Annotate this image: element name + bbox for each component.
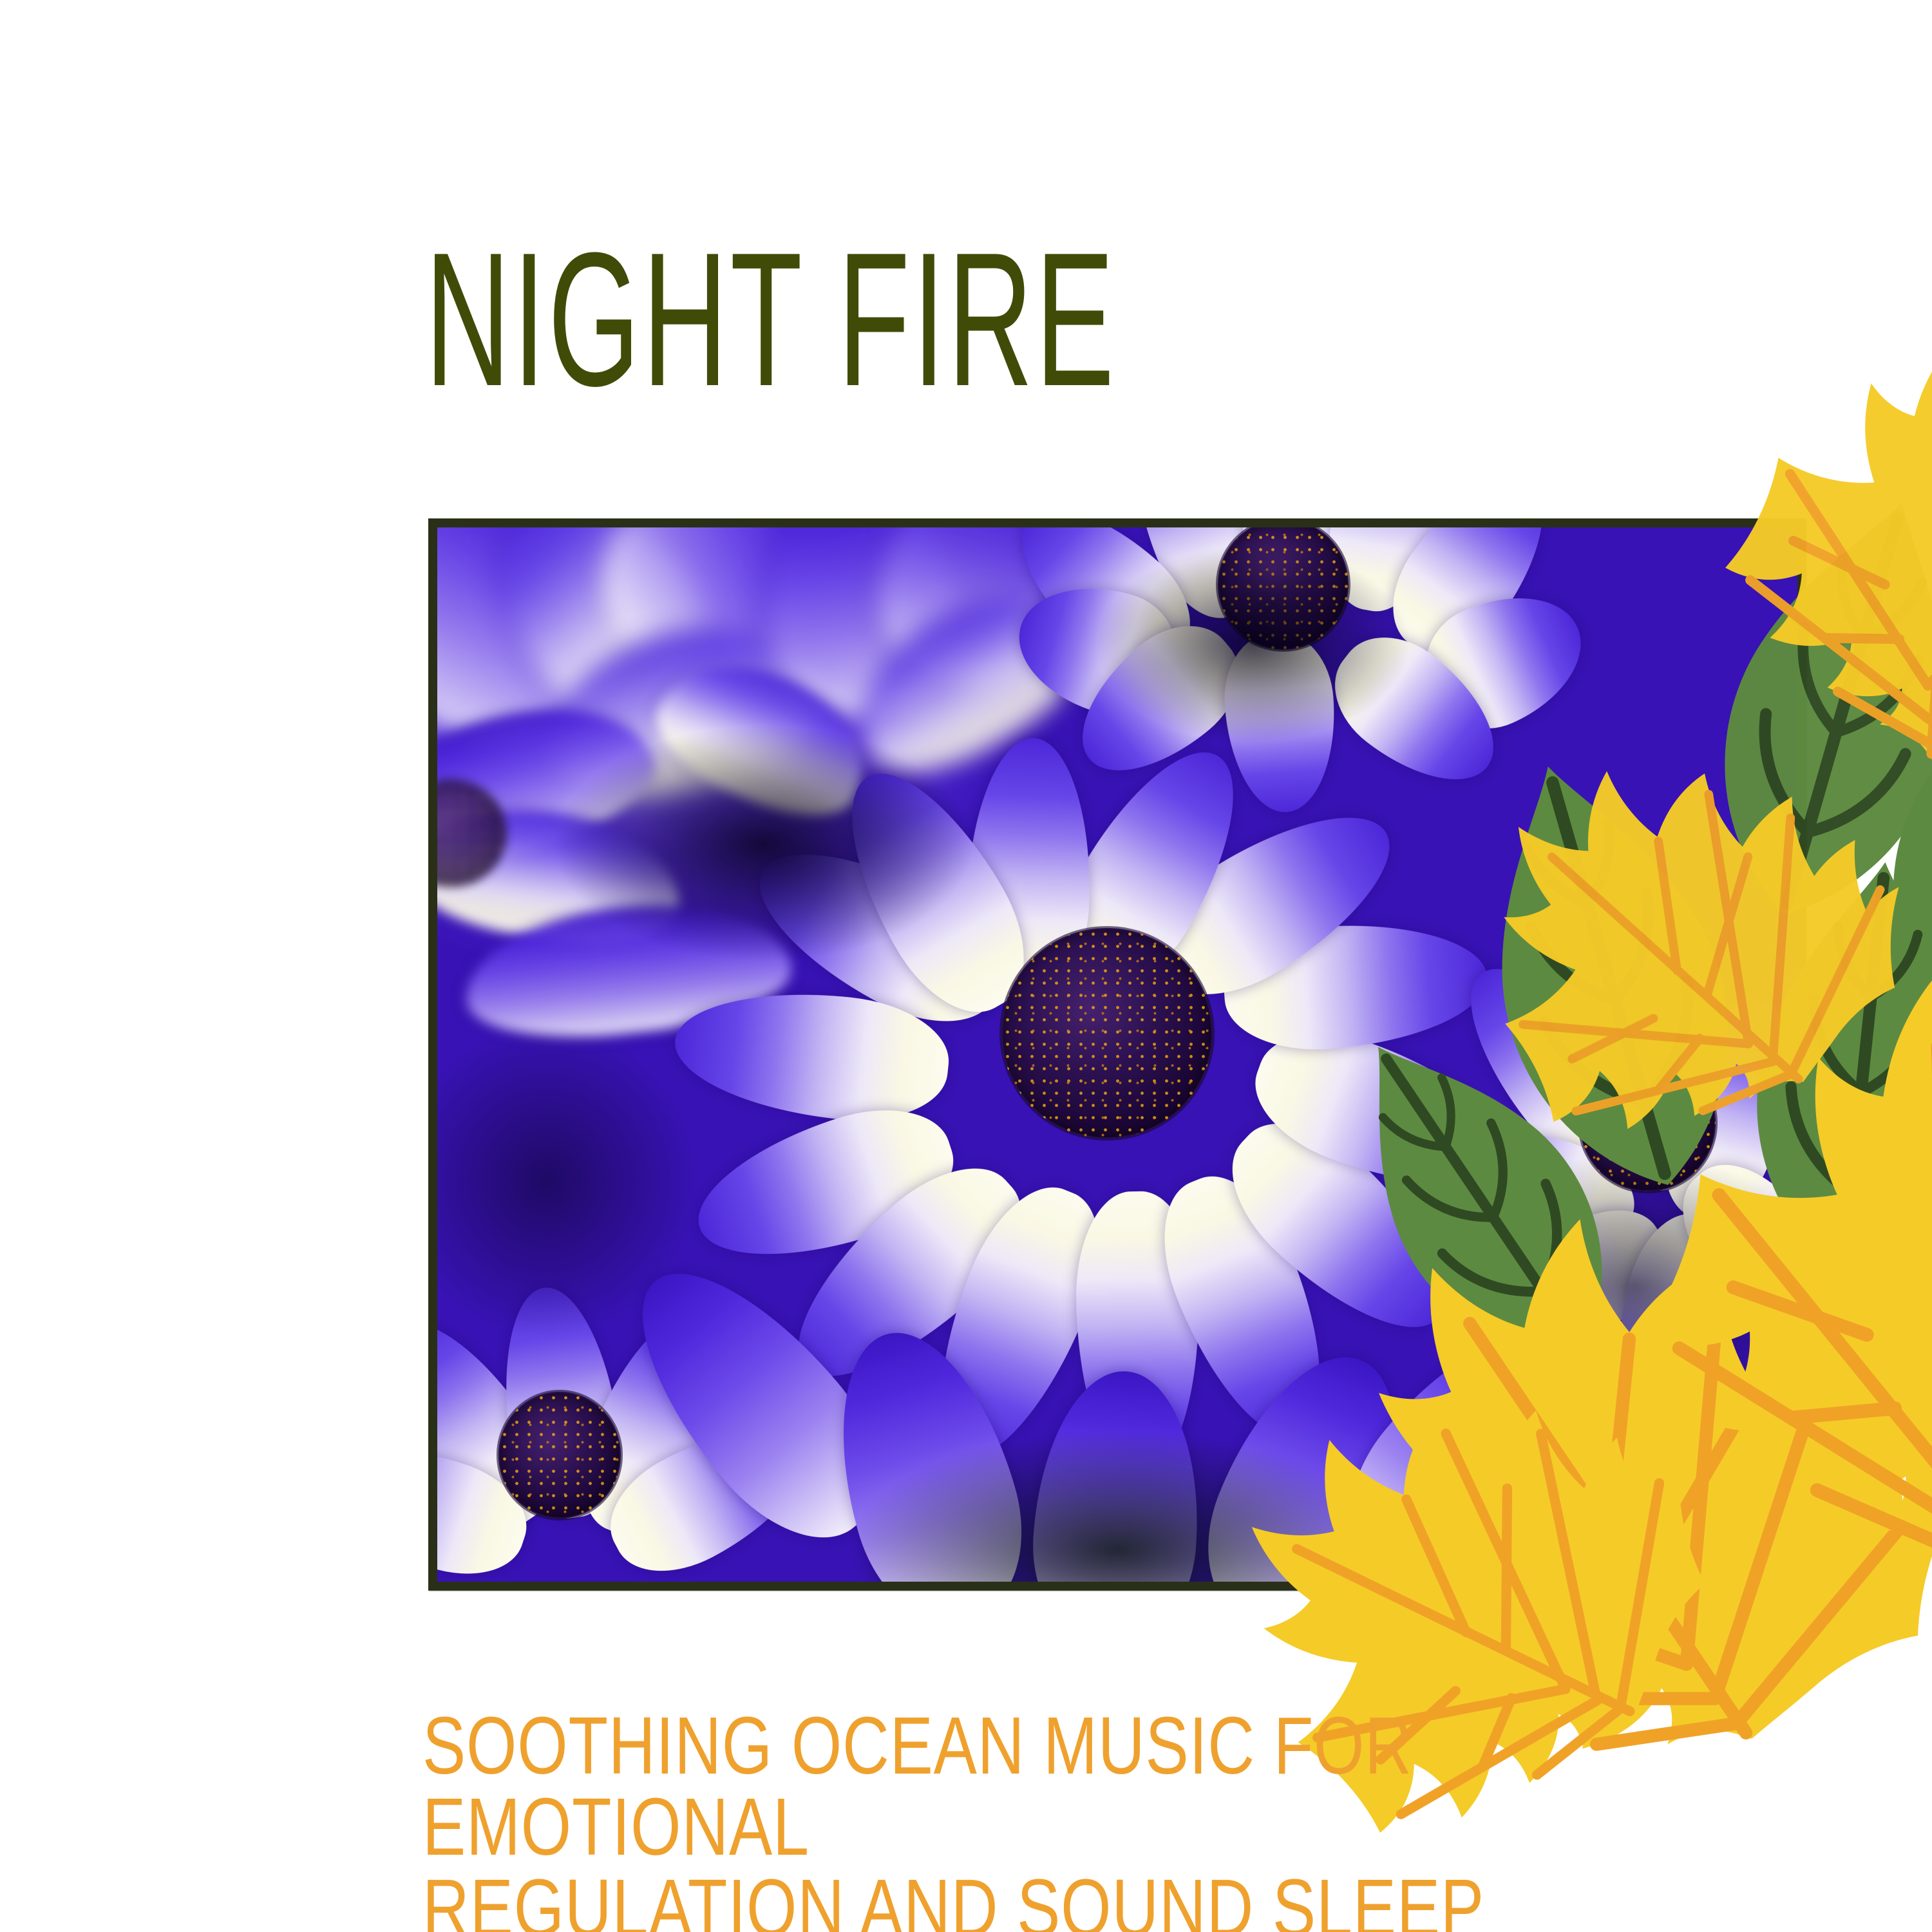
photo-frame xyxy=(428,518,1806,1591)
photo-shadow-overlay xyxy=(437,527,1797,1582)
album-subtitle: SOOTHING OCEAN MUSIC FOR EMOTIONAL REGUL… xyxy=(422,1705,1607,1932)
album-cover: NIGHT FIRE xyxy=(0,0,1932,1932)
green-leaf-icon xyxy=(1832,594,1932,1042)
flower-photo xyxy=(437,527,1797,1582)
page-title: NIGHT FIRE xyxy=(425,224,1117,415)
